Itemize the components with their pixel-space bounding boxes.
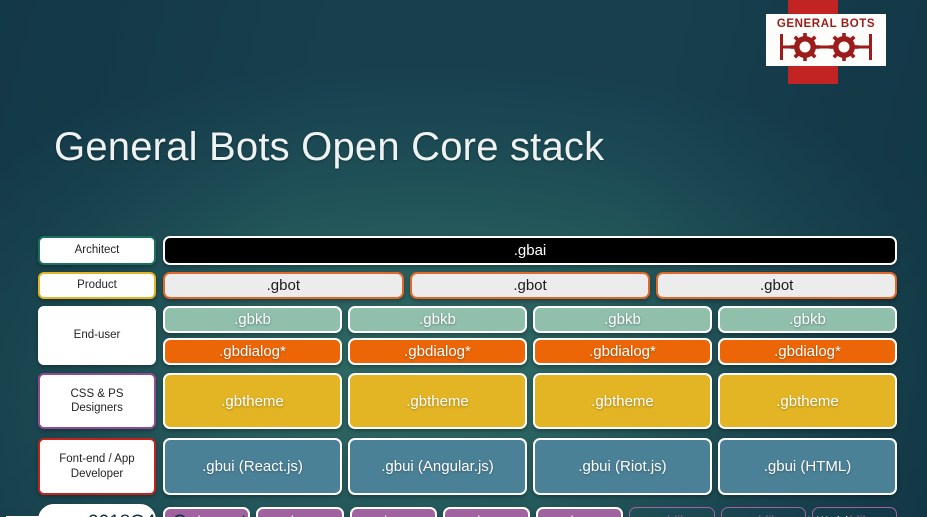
- box-gbtheme[interactable]: .gbtheme: [348, 373, 527, 429]
- box-gbui-html[interactable]: .gbui (HTML): [718, 438, 897, 495]
- box-label: .gbot: [513, 277, 546, 294]
- box-gbdialog[interactable]: .gbdialog*: [163, 338, 342, 365]
- box-label: .gbtheme: [406, 393, 469, 410]
- slide-footer: PRAGMATISMO.IO 2018Q4 - Corporate *: Wor…: [0, 502, 927, 517]
- box-label: .gbai: [514, 242, 547, 259]
- box-gbdialog[interactable]: .gbdialog*: [533, 338, 712, 365]
- role-label-product: Product: [38, 272, 156, 299]
- box-label: .gbot: [267, 277, 300, 294]
- layer-gbot: .gbot .gbot .gbot: [163, 272, 897, 299]
- row-product: Product .gbot .gbot .gbot: [0, 267, 927, 302]
- general-bots-logo: GENERAL BOTS: [758, 0, 927, 92]
- box-label: .gbkb: [604, 311, 641, 328]
- box-gbot[interactable]: .gbot: [163, 272, 404, 299]
- gears-icon: [774, 33, 878, 61]
- layer-gbdialog: .gbdialog* .gbdialog* .gbdialog* .gbdial…: [163, 338, 897, 365]
- box-gbot[interactable]: .gbot: [410, 272, 651, 299]
- box-label: .gbui (HTML): [764, 458, 852, 475]
- box-gbtheme[interactable]: .gbtheme: [163, 373, 342, 429]
- box-gbdialog[interactable]: .gbdialog*: [348, 338, 527, 365]
- logo-card: GENERAL BOTS: [766, 14, 886, 66]
- box-label: .gbtheme: [591, 393, 654, 410]
- box-label: .gbkb: [419, 311, 456, 328]
- layer-gbui: .gbui (React.js) .gbui (Angular.js) .gbu…: [163, 438, 897, 495]
- box-gbui-riot[interactable]: .gbui (Riot.js): [533, 438, 712, 495]
- layer-gbai: .gbai: [163, 236, 897, 265]
- slide-canvas: GENERAL BOTS: [0, 0, 927, 517]
- box-gbtheme[interactable]: .gbtheme: [533, 373, 712, 429]
- role-label-architect: Architect: [38, 236, 156, 265]
- box-gbdialog[interactable]: .gbdialog*: [718, 338, 897, 365]
- box-gbkb[interactable]: .gbkb: [163, 306, 342, 333]
- box-gbtheme[interactable]: .gbtheme: [718, 373, 897, 429]
- role-label-designers: CSS & PS Designers: [38, 373, 156, 429]
- row-frontend-developer: Font-end / App Developer .gbui (React.js…: [0, 434, 927, 501]
- box-gbui-angular[interactable]: .gbui (Angular.js): [348, 438, 527, 495]
- box-gbkb[interactable]: .gbkb: [718, 306, 897, 333]
- box-label: .gbkb: [789, 311, 826, 328]
- box-label: .gbdialog*: [404, 343, 471, 360]
- footer-caption: 2018Q4 - Corporate: [88, 512, 257, 517]
- role-label-frontend-developer: Font-end / App Developer: [38, 438, 156, 495]
- box-label: .gbtheme: [221, 393, 284, 410]
- layer-gbkb: .gbkb .gbkb .gbkb .gbkb: [163, 306, 897, 333]
- role-label-line1: CSS & PS: [70, 387, 123, 401]
- box-label: .gbdialog*: [589, 343, 656, 360]
- role-label-line1: Font-end / App: [59, 452, 134, 466]
- box-label: .gbtheme: [776, 393, 839, 410]
- box-gbui-react[interactable]: .gbui (React.js): [163, 438, 342, 495]
- role-label-line2: Developer: [71, 467, 123, 481]
- box-label: .gbui (Angular.js): [381, 458, 494, 475]
- layer-gbtheme: .gbtheme .gbtheme .gbtheme .gbtheme: [163, 373, 897, 429]
- role-label-text: Product: [77, 278, 117, 292]
- stack-diagram: Architect .gbai Product .gbot .gbot .gbo…: [0, 236, 927, 517]
- role-label-line2: Designers: [71, 401, 123, 415]
- box-label: .gbot: [760, 277, 793, 294]
- box-label: .gbdialog*: [219, 343, 286, 360]
- box-gbkb[interactable]: .gbkb: [348, 306, 527, 333]
- row-designers: CSS & PS Designers .gbtheme .gbtheme .gb…: [0, 370, 927, 434]
- box-gbot[interactable]: .gbot: [656, 272, 897, 299]
- box-gbkb[interactable]: .gbkb: [533, 306, 712, 333]
- row-architect: Architect .gbai: [0, 236, 927, 267]
- row-end-user: End-user .gbkb .gbkb .gbkb .gbkb .gbdial…: [0, 302, 927, 370]
- role-label-text: End-user: [74, 328, 121, 342]
- role-label-text: Architect: [75, 243, 120, 257]
- role-label-end-user: End-user: [38, 306, 156, 365]
- box-label: .gbui (Riot.js): [578, 458, 666, 475]
- page-title: General Bots Open Core stack: [54, 125, 927, 170]
- box-gbai[interactable]: .gbai: [163, 236, 897, 265]
- box-label: .gbkb: [234, 311, 271, 328]
- box-label: .gbui (React.js): [202, 458, 303, 475]
- logo-wordmark: GENERAL BOTS: [777, 19, 875, 31]
- box-label: .gbdialog*: [774, 343, 841, 360]
